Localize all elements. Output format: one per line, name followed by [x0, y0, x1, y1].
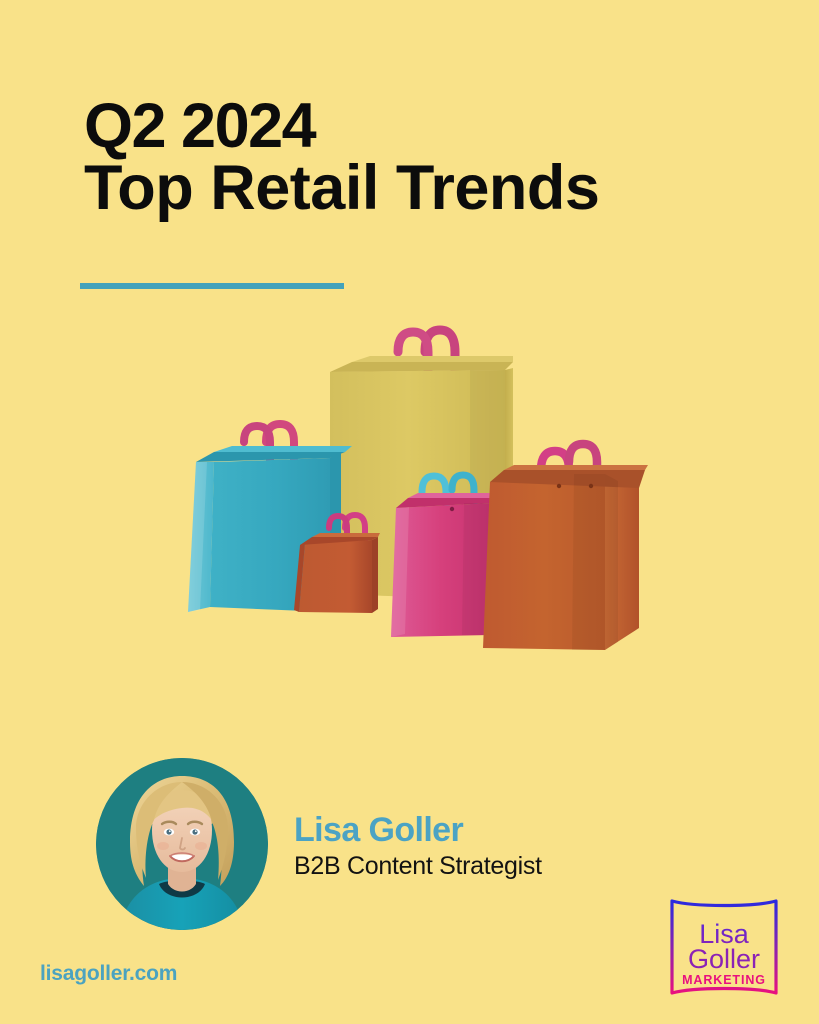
poster-canvas: Q2 2024 Top Retail Trends: [0, 0, 819, 1024]
logo-line-2: Goller: [688, 944, 760, 974]
small-rust-bag: [294, 515, 380, 613]
logo-tagline: MARKETING: [682, 973, 766, 987]
yellow-bag: [330, 330, 513, 600]
brand-logo[interactable]: Lisa Goller MARKETING: [668, 894, 780, 1000]
author-name: Lisa Goller: [294, 813, 714, 849]
page-title: Q2 2024 Top Retail Trends: [84, 96, 744, 219]
teal-bag: [188, 424, 352, 612]
title-line-2: Top Retail Trends: [84, 158, 744, 220]
pink-bag: [391, 475, 514, 637]
title-accent-rule: [80, 283, 344, 289]
large-rust-bag: [483, 444, 648, 650]
author-row: Lisa Goller B2B Content Strategist: [96, 758, 716, 938]
website-link[interactable]: lisagoller.com: [40, 962, 177, 986]
author-role: B2B Content Strategist: [294, 851, 714, 882]
avatar: [96, 758, 268, 930]
author-text: Lisa Goller B2B Content Strategist: [294, 813, 714, 882]
title-line-1: Q2 2024: [84, 96, 744, 158]
